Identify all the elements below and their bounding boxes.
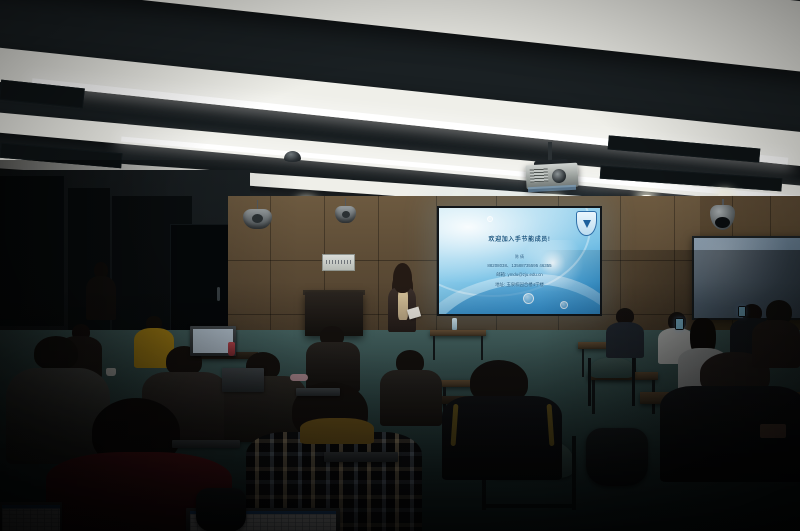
desk-leg [433,336,435,360]
presentation-slide: 欢迎加入手节能成员! 陈 倩 88208038、13588735595 4635… [439,208,600,314]
slide-decor-bubble [560,301,568,309]
slide-email-line: 邮箱: ymdu@zju.edu.cn [439,272,600,279]
slide-address-value: 玉泉校园合楼4学楼 [506,282,544,287]
smartphone-on-desk [290,374,308,381]
desk-leg [582,349,584,377]
wall-control-panel[interactable] [322,254,355,271]
door-handle-icon[interactable] [217,287,220,301]
slide-phone-line: 88208038、13588735595 46355 [439,263,600,270]
slide-email-label: 邮箱: [496,272,506,277]
smartphone-camera [675,318,684,330]
slide-decor-bubble [523,293,534,304]
lecture-hall-photo: 欢迎加入手节能成员! 陈 倩 88208038、13588735595 4635… [0,0,800,531]
slide-text-block: 欢迎加入手节能成员! 陈 倩 88208038、13588735595 4635… [439,236,600,289]
slide-address-line: 地址: 玉泉校园合楼4学楼 [439,282,600,289]
backpack-on-floor [586,428,648,486]
drink-cup [228,342,235,356]
slide-address-label: 地址: [495,282,505,287]
projector-vent-icon [530,168,549,183]
ceiling-dome-camera-icon [284,151,301,162]
backpack-on-floor [196,488,246,531]
student-desk [430,330,486,336]
wall-dark-panel [0,176,64,326]
slide-title: 欢迎加入手节能成员! [439,236,600,245]
slide-contact-name: 陈 倩 [439,254,600,260]
side-door[interactable] [170,224,230,342]
ptz-camera-lens-icon [715,217,730,228]
university-shield-logo [576,211,595,234]
desk-leg [481,336,483,360]
slide-email-value: ymdu@zju.edu.cn [508,272,543,277]
smartphone-camera [738,306,746,317]
desk-leg [592,380,595,414]
paper-note [106,368,116,376]
projection-screen: 欢迎加入手节能成员! 陈 倩 88208038、13588735595 4635… [437,206,602,316]
notebook [760,424,786,438]
